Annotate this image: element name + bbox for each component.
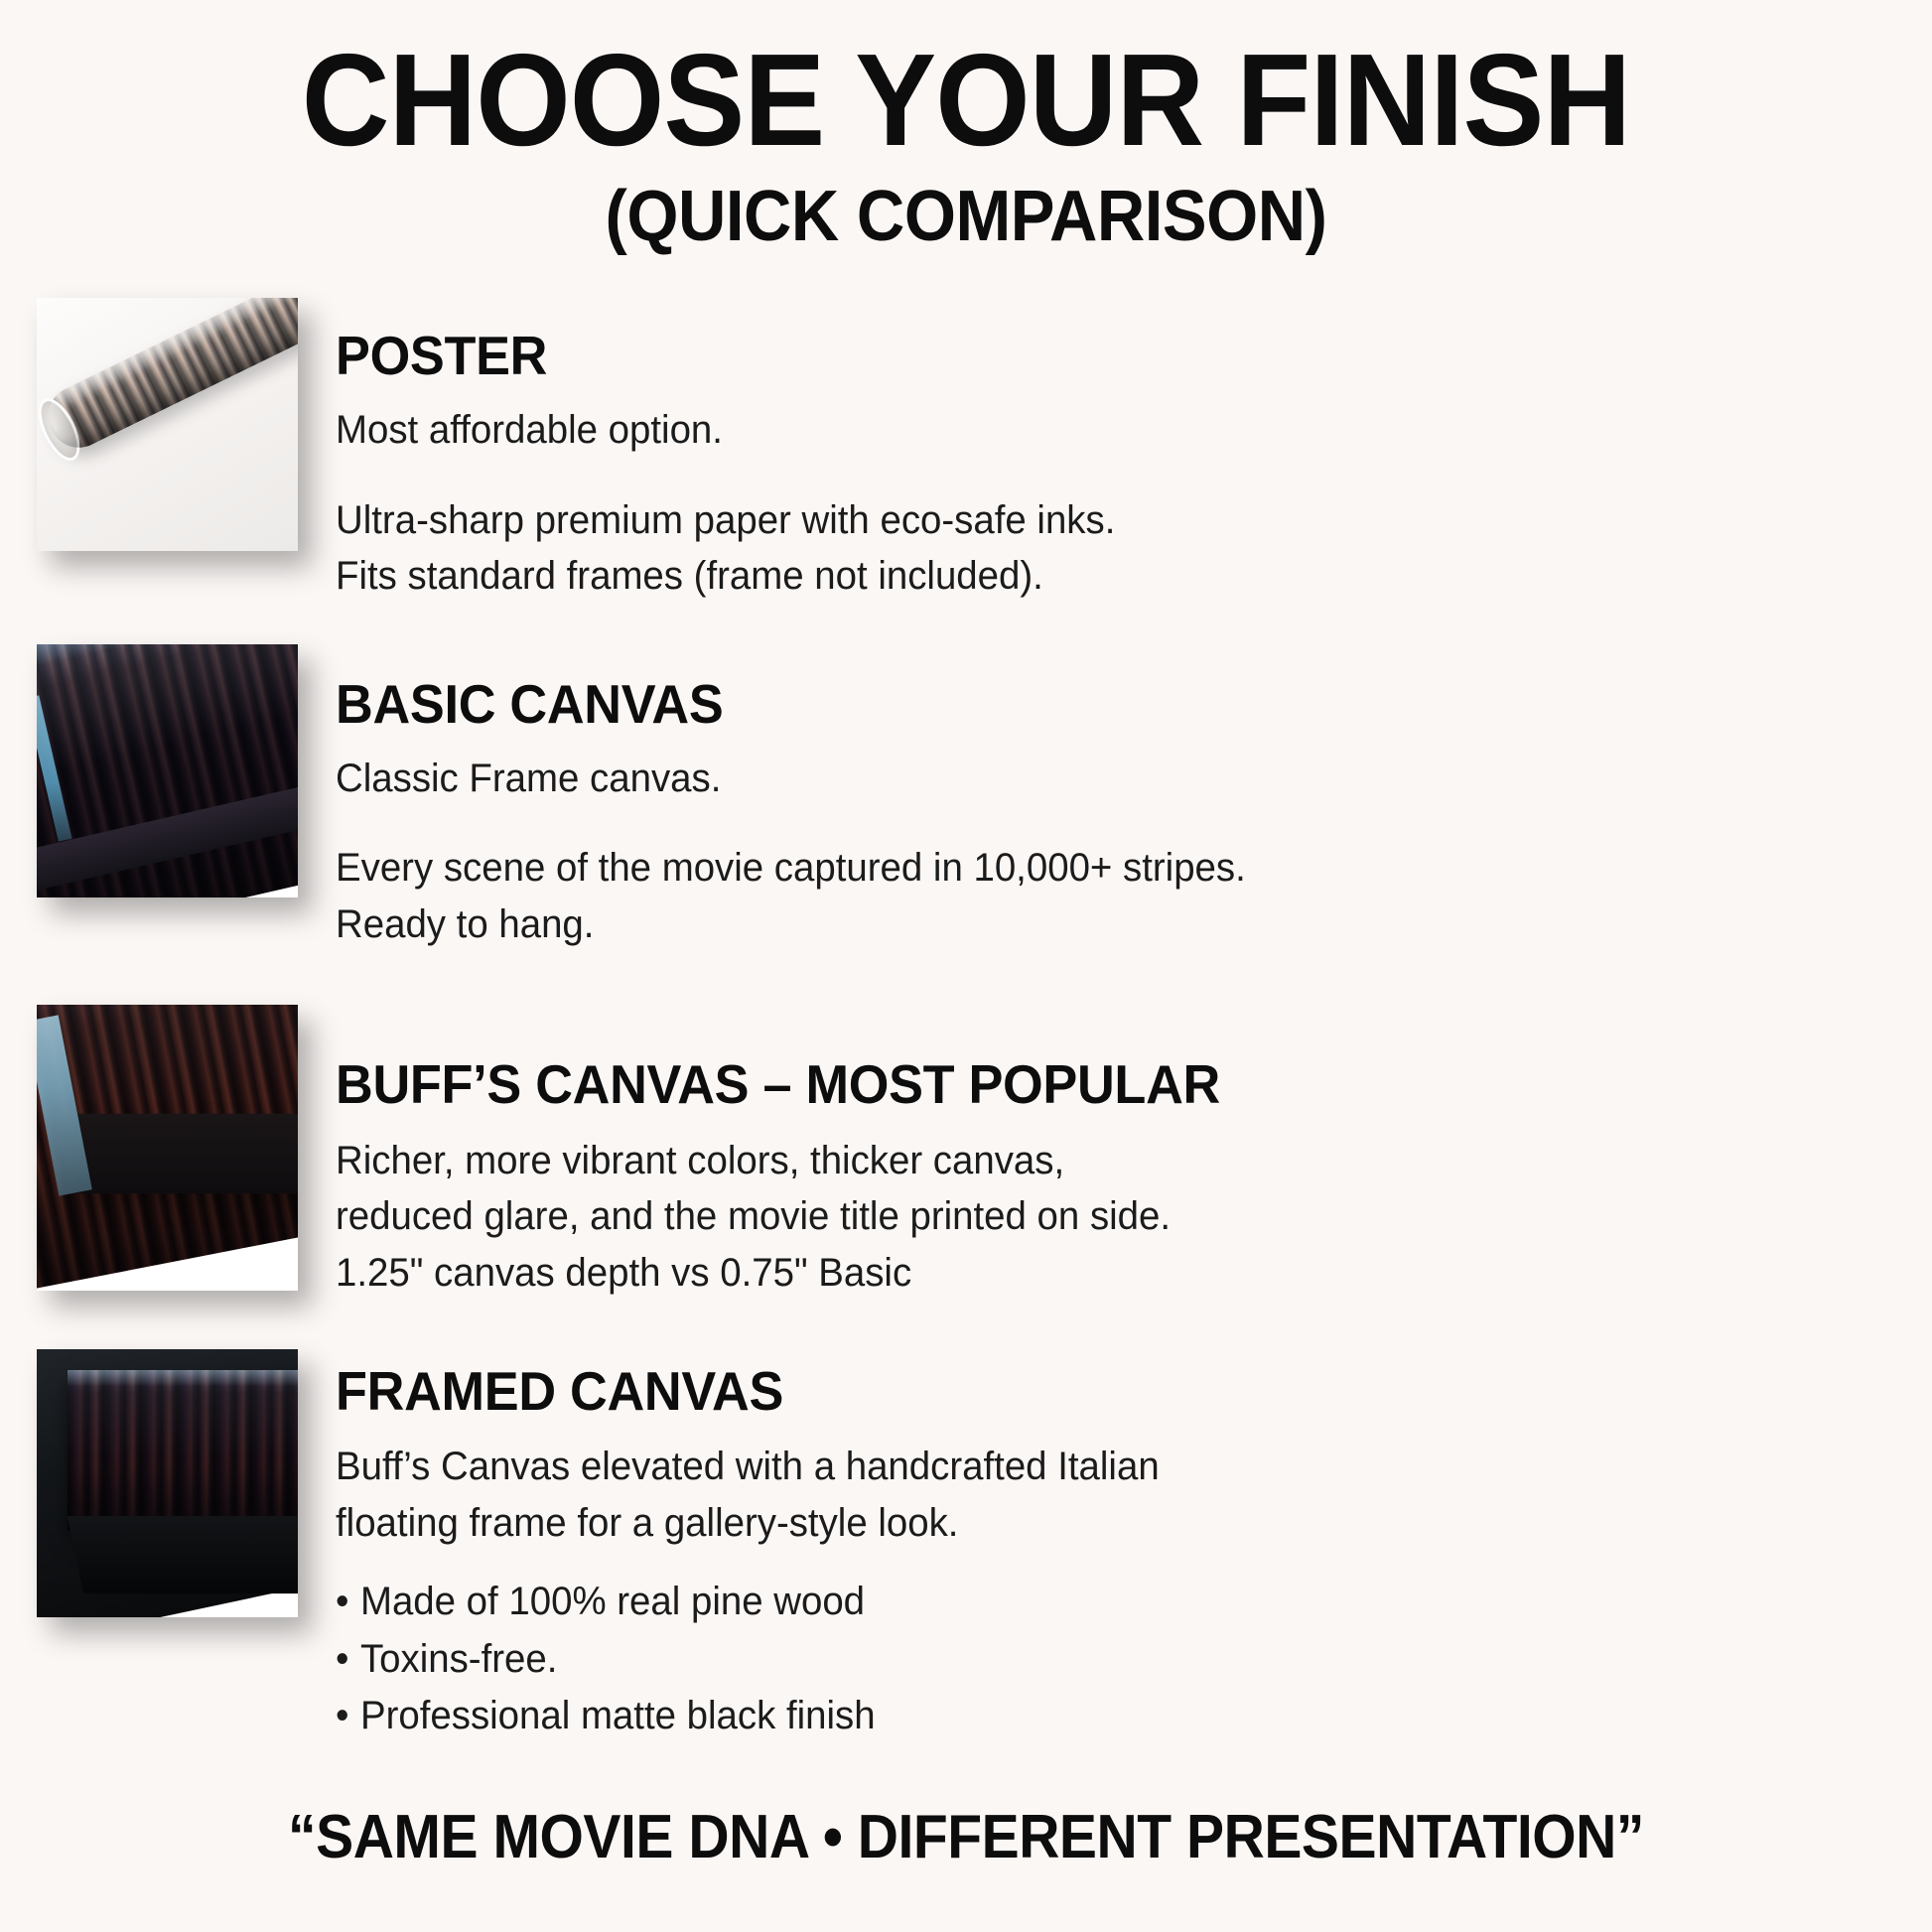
buffs-canvas-thumb-wrap <box>0 1005 328 1291</box>
header: CHOOSE YOUR FINISH (QUICK COMPARISON) <box>0 0 1932 254</box>
list-item: •Made of 100% real pine wood <box>336 1574 1830 1631</box>
bullet-icon: • <box>336 1574 360 1631</box>
list-item: •Toxins-free. <box>336 1631 1830 1689</box>
framed-art-face-icon <box>68 1370 297 1531</box>
poster-detail: Ultra-sharp premium paper with eco-safe … <box>336 492 1830 606</box>
list-item-label: Made of 100% real pine wood <box>360 1580 865 1623</box>
footer-tagline: “SAME MOVIE DNA • DIFFERENT PRESENTATION… <box>77 1802 1855 1872</box>
basic-canvas-thumb-wrap <box>0 644 328 897</box>
poster-title: POSTER <box>336 326 1815 386</box>
basic-canvas-copy: BASIC CANVAS Classic Frame canvas. Every… <box>328 644 1932 953</box>
framed-canvas-product-image <box>37 1349 298 1617</box>
buffs-canvas-side-icon <box>57 1114 297 1193</box>
list-item-label: Toxins-free. <box>360 1637 557 1681</box>
buffs-canvas-title: BUFF’S CANVAS – MOST POPULAR <box>336 1054 1815 1115</box>
finish-options-list: POSTER Most affordable option. Ultra-sha… <box>0 298 1932 1745</box>
rolled-poster-icon <box>39 298 298 458</box>
finish-option-poster: POSTER Most affordable option. Ultra-sha… <box>0 298 1932 605</box>
poster-copy: POSTER Most affordable option. Ultra-sha… <box>328 298 1932 605</box>
poster-product-image <box>37 298 298 551</box>
framed-canvas-title: FRAMED CANVAS <box>336 1361 1815 1422</box>
buffs-canvas-copy: BUFF’S CANVAS – MOST POPULAR Richer, mor… <box>328 1005 1932 1302</box>
footer: “SAME MOVIE DNA • DIFFERENT PRESENTATION… <box>0 1802 1932 1872</box>
framed-canvas-thumb-wrap <box>0 1349 328 1617</box>
buffs-canvas-product-image <box>37 1005 298 1291</box>
bullet-icon: • <box>336 1631 360 1689</box>
frame-base-icon <box>67 1516 297 1593</box>
framed-canvas-bullets: •Made of 100% real pine wood •Toxins-fre… <box>336 1574 1892 1745</box>
bullet-icon: • <box>336 1688 360 1745</box>
finish-option-basic-canvas: BASIC CANVAS Classic Frame canvas. Every… <box>0 644 1932 953</box>
basic-canvas-product-image <box>37 644 298 897</box>
poster-thumb-wrap <box>0 298 328 551</box>
list-item: •Professional matte black finish <box>336 1688 1830 1745</box>
basic-canvas-title: BASIC CANVAS <box>336 674 1815 735</box>
poster-lead: Most affordable option. <box>336 402 1830 459</box>
basic-canvas-lead: Classic Frame canvas. <box>336 751 1830 807</box>
framed-canvas-copy: FRAMED CANVAS Buff’s Canvas elevated wit… <box>328 1349 1932 1745</box>
basic-canvas-detail: Every scene of the movie captured in 10,… <box>336 840 1830 953</box>
framed-canvas-detail: Buff’s Canvas elevated with a handcrafte… <box>336 1439 1830 1552</box>
finish-option-buffs-canvas: BUFF’S CANVAS – MOST POPULAR Richer, mor… <box>0 1005 1932 1302</box>
page-title: CHOOSE YOUR FINISH <box>68 34 1864 168</box>
comparison-infographic: CHOOSE YOUR FINISH (QUICK COMPARISON) PO… <box>0 0 1932 1932</box>
list-item-label: Professional matte black finish <box>360 1694 876 1737</box>
buffs-canvas-detail: Richer, more vibrant colors, thicker can… <box>336 1133 1830 1302</box>
finish-option-framed-canvas: FRAMED CANVAS Buff’s Canvas elevated wit… <box>0 1349 1932 1745</box>
page-subtitle: (QUICK COMPARISON) <box>68 180 1864 255</box>
